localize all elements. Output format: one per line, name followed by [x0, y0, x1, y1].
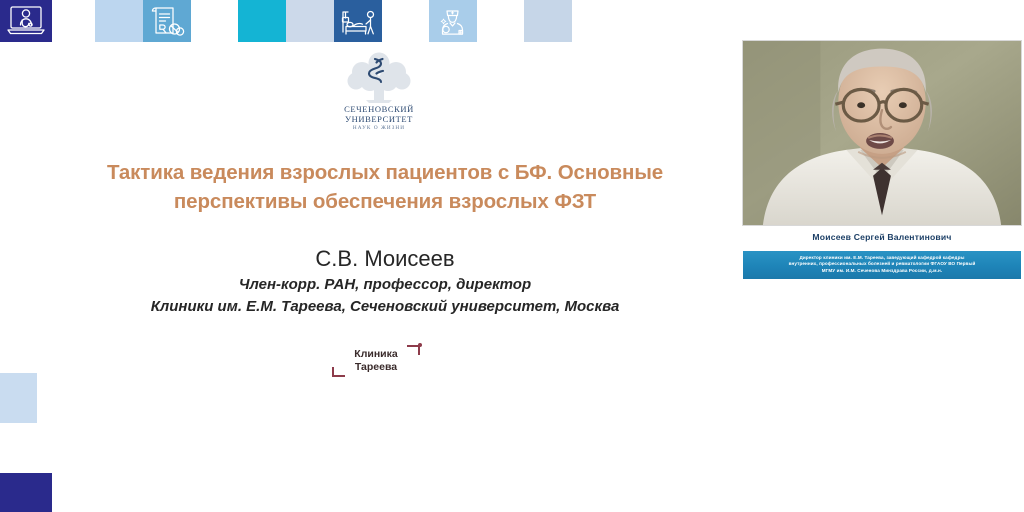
doctor-laptop-icon — [0, 0, 52, 42]
webcam-video-image — [743, 41, 1021, 225]
sechenov-logo-line3: наук о жизни — [329, 124, 429, 133]
corner-tile-light — [0, 373, 37, 423]
slide-title: Тактика ведения взрослых пациентов с БФ.… — [58, 158, 712, 216]
tareev-logo-text: Клиника Тареева — [340, 348, 412, 373]
nurse-icon — [429, 0, 477, 42]
sechenov-university-logo: Сеченовский Университет наук о жизни — [329, 52, 429, 133]
tareev-logo-line2: Тареева — [340, 361, 412, 374]
tareev-logo-line1: Клиника — [340, 348, 412, 361]
patient-bed-icon — [334, 0, 382, 42]
presentation-slide: Сеченовский Университет наук о жизни Так… — [0, 0, 1024, 512]
corner-tile-navy — [0, 473, 52, 512]
accent-dot-icon — [418, 343, 422, 347]
tile-prescription — [143, 0, 191, 42]
tile-hospital-bed — [334, 0, 382, 42]
tile-plain-2 — [238, 0, 286, 42]
tareev-clinic-logo: Клиника Тареева — [330, 343, 422, 383]
tile-plain-3 — [286, 0, 334, 42]
caption-line-3: МГМУ им. И.М. Сеченова Минздрава России,… — [749, 268, 1015, 274]
video-participant-name: Моисеев Сергей Валентинович — [740, 232, 1024, 242]
speaker-name: С.В. Моисеев — [58, 245, 712, 273]
tile-nurse — [429, 0, 477, 42]
tile-plain-1 — [95, 0, 143, 42]
prescription-icon — [143, 0, 191, 42]
tree-dna-logo — [336, 52, 422, 104]
speaker-affiliation: Клиники им. Е.М. Тареева, Сеченовский ун… — [58, 296, 712, 318]
speaker-role: Член-корр. РАН, профессор, директор — [58, 274, 712, 296]
tile-plain-4 — [524, 0, 572, 42]
sechenov-logo-line2: Университет — [329, 114, 429, 124]
video-feed[interactable] — [742, 40, 1022, 226]
sechenov-logo-line1: Сеченовский — [329, 104, 429, 114]
video-participant-panel[interactable]: Моисеев Сергей Валентинович Директор кли… — [740, 38, 1024, 288]
video-participant-caption: Директор клиники им. Е.М. Тареева, завед… — [743, 251, 1021, 279]
caption-line-2: внутренних, профессиональных болезней и … — [749, 261, 1015, 267]
tile-telemedicine — [0, 0, 52, 42]
